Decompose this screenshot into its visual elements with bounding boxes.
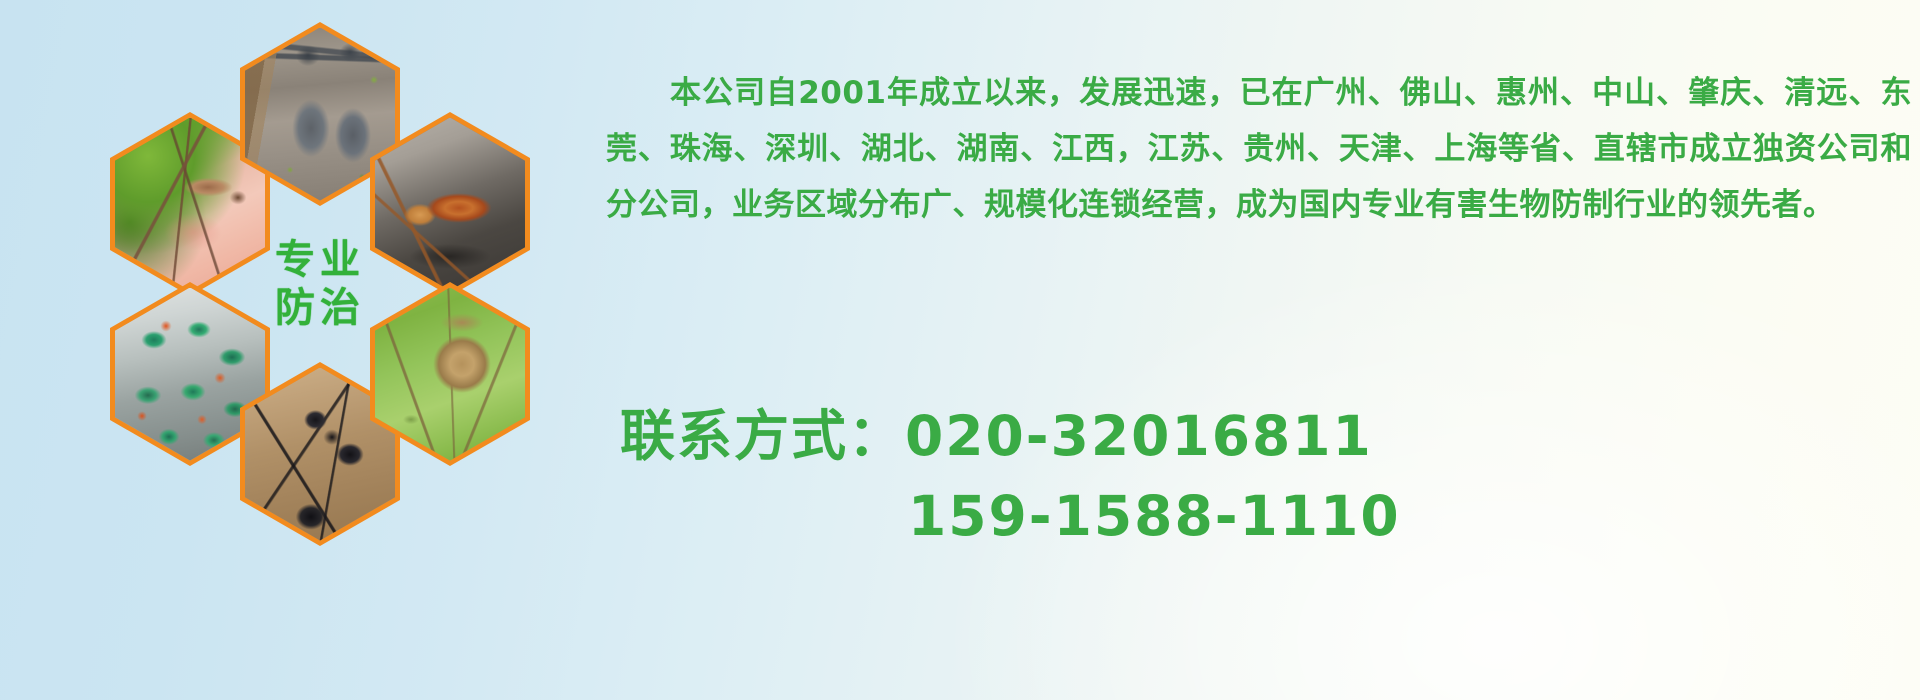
company-intro-paragraph: 本公司自2001年成立以来，发展迅速，已在广州、佛山、惠州、中山、肇庆、清远、东… (606, 65, 1912, 233)
contact-phone-mobile[interactable]: 159-1588-1110 (620, 480, 1920, 552)
contact-block: 联系方式：020-32016811 159-1588-1110 (620, 400, 1920, 552)
contact-phone-landline[interactable]: 联系方式：020-32016811 (620, 400, 1920, 472)
center-label-line-1: 专业 (275, 239, 365, 281)
content-column: 本公司自2001年成立以来，发展迅速，已在广州、佛山、惠州、中山、肇庆、清远、东… (606, 0, 1920, 700)
hexagon-image-cluster: 专业 防治 (88, 0, 588, 584)
promo-banner: 专业 防治 本公司自2001年成立以来，发展迅速，已在广州、佛山、惠州、中山、肇… (0, 0, 1920, 700)
center-label-line-2: 防治 (275, 287, 365, 329)
